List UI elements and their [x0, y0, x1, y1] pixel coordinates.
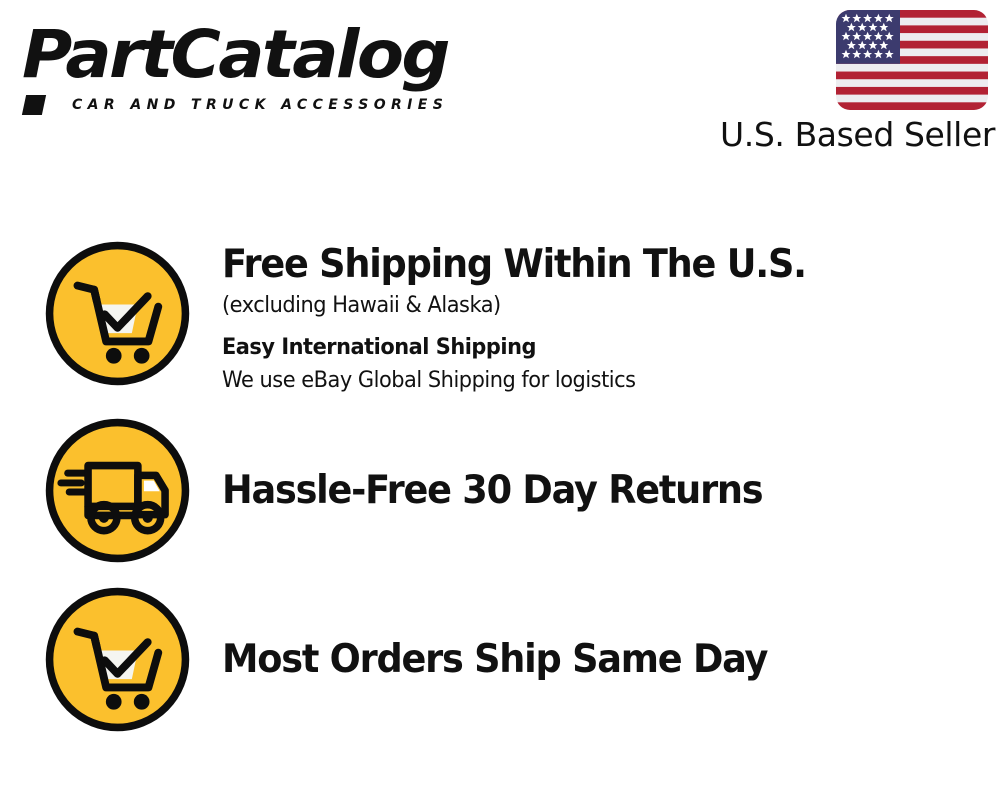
brand-tagline-row: CAR AND TRUCK ACCESSORIES [24, 94, 492, 116]
feature-row: Hassle-Free 30 Day Returns [0, 415, 1000, 566]
us-flag-icon [836, 10, 988, 110]
feature-icon-wrap [40, 238, 195, 389]
brand-tagline: CAR AND TRUCK ACCESSORIES [72, 96, 448, 114]
feature-icon-wrap [40, 415, 195, 566]
feature-icon-wrap [40, 584, 195, 735]
feature-subtitle-strong: Easy International Shipping [222, 332, 961, 364]
shopping-cart-check-icon [42, 584, 193, 735]
shopping-cart-check-icon [42, 238, 193, 389]
feature-subtitle: (excluding Hawaii & Alaska) [222, 290, 961, 322]
seller-caption: U.S. Based Seller [720, 116, 988, 154]
brand-wordmark: PartCatalog [22, 18, 511, 92]
feature-row: Most Orders Ship Same Day [0, 584, 1000, 735]
page-header: PartCatalog CAR AND TRUCK ACCESSORIES [0, 0, 1000, 175]
feature-title: Most Orders Ship Same Day [222, 635, 767, 684]
feature-title: Free Shipping Within The U.S. [222, 240, 953, 289]
feature-text: Free Shipping Within The U.S. (excluding… [195, 238, 1000, 397]
brand-logo[interactable]: PartCatalog CAR AND TRUCK ACCESSORIES [22, 18, 492, 118]
feature-row: Free Shipping Within The U.S. (excluding… [0, 238, 1000, 397]
brand-slash-mark-icon [22, 95, 46, 115]
feature-title: Hassle-Free 30 Day Returns [222, 466, 762, 515]
feature-subtitle-detail: We use eBay Global Shipping for logistic… [222, 365, 961, 397]
feature-text: Hassle-Free 30 Day Returns [195, 415, 1000, 566]
us-based-seller-badge: U.S. Based Seller [720, 10, 988, 158]
feature-list: Free Shipping Within The U.S. (excluding… [0, 238, 1000, 735]
feature-text: Most Orders Ship Same Day [195, 584, 1000, 735]
delivery-truck-icon [42, 415, 193, 566]
